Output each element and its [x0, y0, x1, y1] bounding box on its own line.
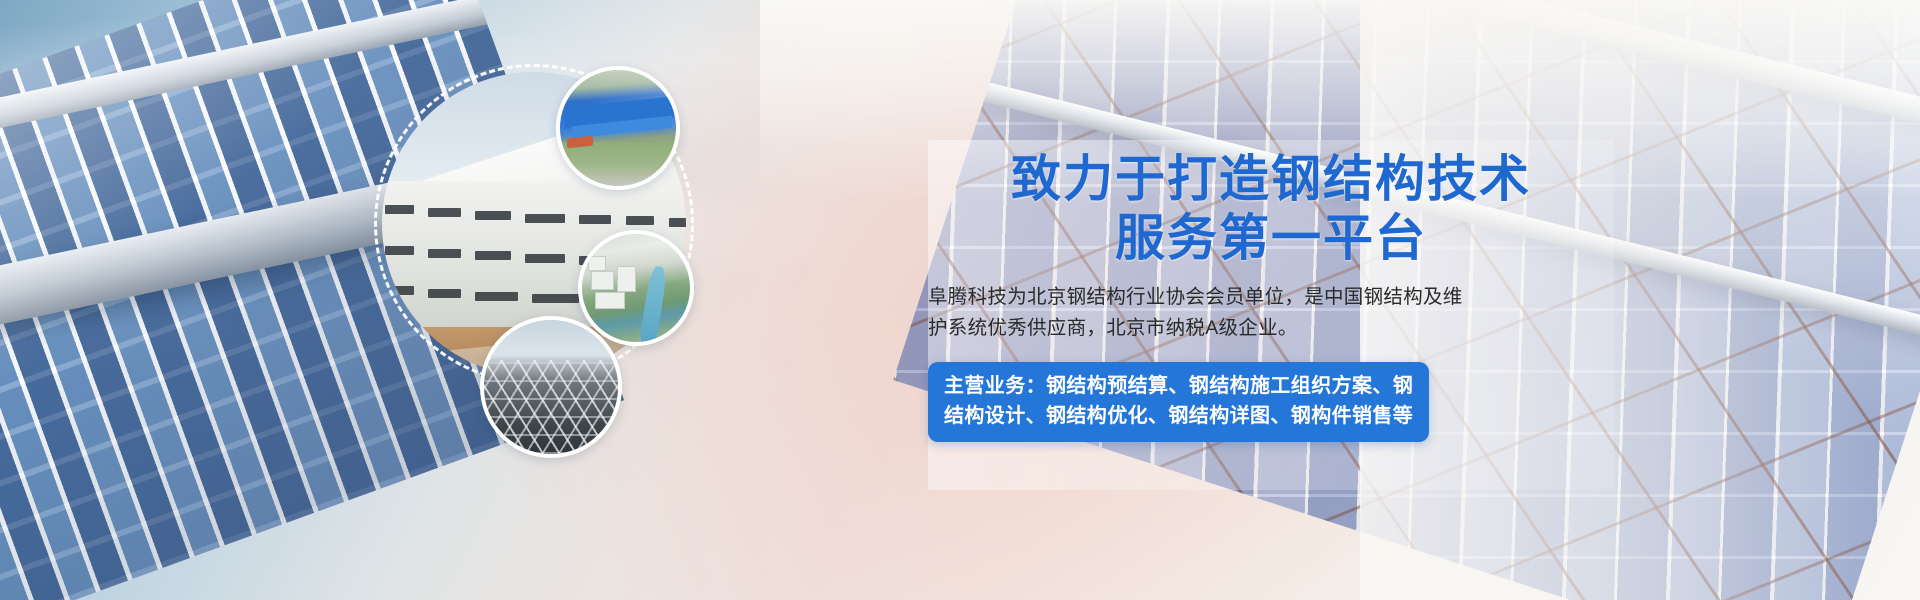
- aerial-plant-image: [560, 70, 676, 186]
- main-business-badge[interactable]: 主营业务：钢结构预结算、钢结构施工组织方案、钢 结构设计、钢结构优化、钢结构详图…: [928, 362, 1429, 442]
- truss-lattice: [480, 360, 622, 454]
- campus-river: [639, 266, 668, 345]
- headline-line-1: 致力于打造钢结构技术: [1011, 151, 1531, 207]
- description-line-2: 护系统优秀供应商，北京市纳税A级企业。: [928, 313, 1614, 344]
- company-description: 阜腾科技为北京钢结构行业协会会员单位，是中国钢结构及维 护系统优秀供应商，北京市…: [928, 282, 1614, 344]
- description-line-1: 阜腾科技为北京钢结构行业协会会员单位，是中国钢结构及维: [928, 282, 1614, 313]
- photo-circle-steel-truss-structure: [480, 316, 622, 458]
- business-line-1: 主营业务：钢结构预结算、钢结构施工组织方案、钢: [944, 371, 1413, 401]
- content-block: 致力于打造钢结构技术 服务第一平台 阜腾科技为北京钢结构行业协会会员单位，是中国…: [928, 150, 1614, 442]
- circular-photo-cluster: [360, 48, 780, 488]
- hero-banner: 致力于打造钢结构技术 服务第一平台 阜腾科技为北京钢结构行业协会会员单位，是中国…: [0, 0, 1920, 600]
- page-title: 致力于打造钢结构技术 服务第一平台: [928, 150, 1614, 268]
- business-line-2: 结构设计、钢结构优化、钢结构详图、钢构件销售等: [944, 401, 1413, 431]
- truss-image: [484, 320, 618, 454]
- plant-greenery: [560, 142, 676, 181]
- photo-circle-aerial-blue-roof-plant: [556, 66, 680, 190]
- headline-line-2: 服务第一平台: [928, 209, 1614, 268]
